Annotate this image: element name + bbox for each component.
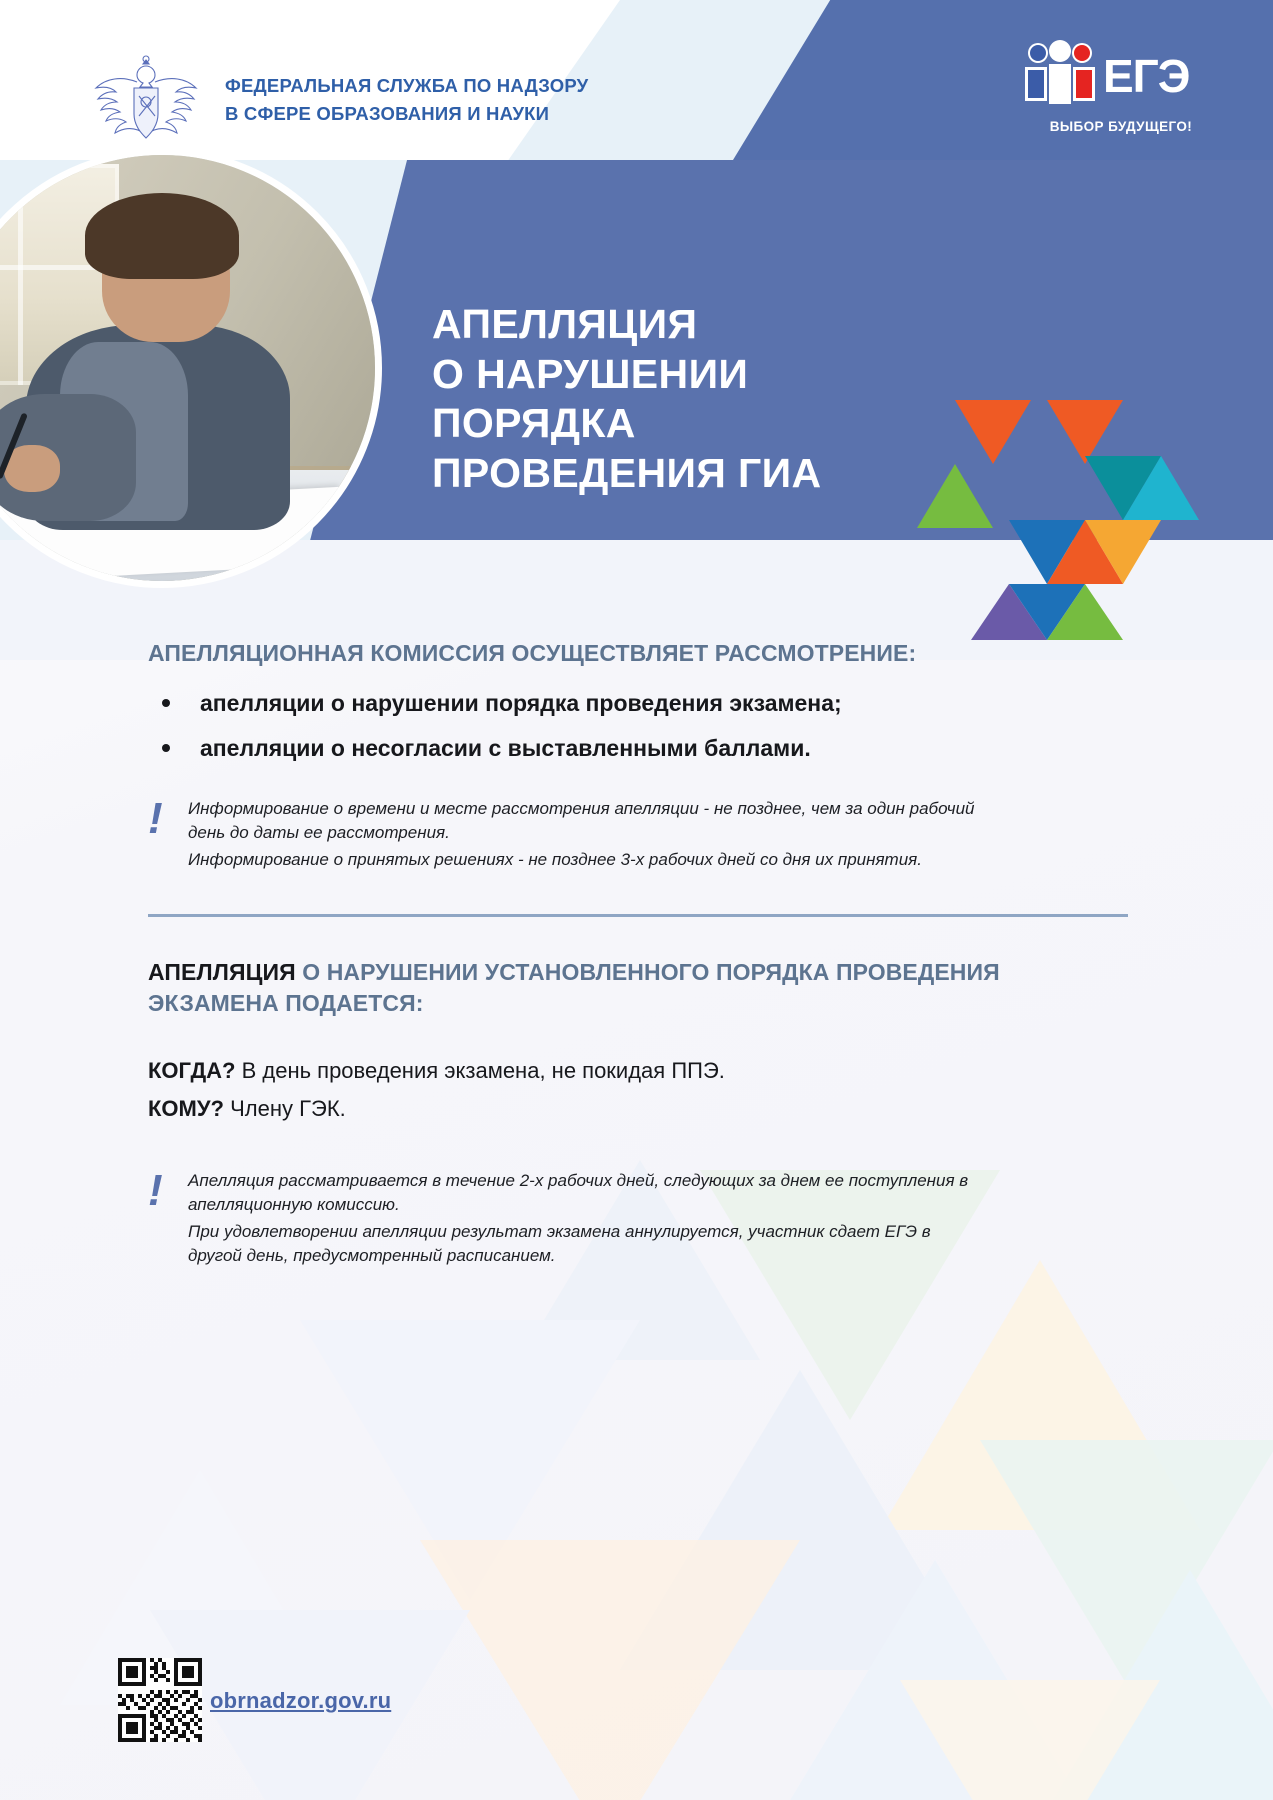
page-title: АПЕЛЛЯЦИЯ О НАРУШЕНИИ ПОРЯДКА ПРОВЕДЕНИЯ… xyxy=(432,300,952,498)
main-content: АПЕЛЛЯЦИОННАЯ КОМИССИЯ ОСУЩЕСТВЛЯЕТ РАСС… xyxy=(0,640,1273,1271)
ege-brand-logo: ЕГЭ ВЫБОР БУДУЩЕГО! xyxy=(1021,40,1221,145)
qa-value: Члену ГЭК. xyxy=(224,1096,346,1121)
section1-note: ! Информирование о времени и месте рассм… xyxy=(148,797,988,873)
list-item: апелляции о несогласии с выставленными б… xyxy=(148,734,1273,763)
ege-wordmark: ЕГЭ xyxy=(1103,53,1189,99)
section-divider xyxy=(148,914,1128,917)
decorative-triangles-hero xyxy=(955,400,1273,650)
ege-tagline: ВЫБОР БУДУЩЕГО! xyxy=(1021,119,1221,134)
title-line-3: ПОРЯДКА xyxy=(432,399,952,449)
title-line-2: О НАРУШЕНИИ xyxy=(432,350,952,400)
student-writing-photo xyxy=(0,148,382,588)
list-item: апелляции о нарушении порядка проведения… xyxy=(148,689,1273,718)
ege-people-logo-icon xyxy=(1021,40,1099,111)
section2-note: ! Апелляция рассматривается в течение 2-… xyxy=(148,1169,988,1270)
note-line: Апелляция рассматривается в течение 2-х … xyxy=(188,1169,988,1218)
title-line-1: АПЕЛЛЯЦИЯ xyxy=(432,300,952,350)
federal-coat-of-arms-icon xyxy=(92,52,200,148)
section2-qa-list: КОГДА? В день проведения экзамена, не по… xyxy=(148,1052,1273,1129)
title-line-4: ПРОВЕДЕНИЯ ГИА xyxy=(432,449,952,499)
poster-root: ФЕДЕРАЛЬНАЯ СЛУЖБА ПО НАДЗОРУ В СФЕРЕ ОБ… xyxy=(0,0,1273,1800)
exclamation-mark-icon: ! xyxy=(148,1173,163,1208)
qa-label: КОГДА? xyxy=(148,1058,235,1083)
section2-heading-accent: АПЕЛЛЯЦИЯ xyxy=(148,959,296,985)
qa-row-whom: КОМУ? Члену ГЭК. xyxy=(148,1090,1273,1129)
note-line: Информирование о времени и месте рассмот… xyxy=(188,797,988,846)
section1-bullet-list: апелляции о нарушении порядка проведения… xyxy=(148,689,1273,763)
website-link[interactable]: obrnadzor.gov.ru xyxy=(210,1688,391,1714)
qa-value: В день проведения экзамена, не покидая П… xyxy=(235,1058,724,1083)
organization-name: ФЕДЕРАЛЬНАЯ СЛУЖБА ПО НАДЗОРУ В СФЕРЕ ОБ… xyxy=(225,72,588,128)
exclamation-mark-icon: ! xyxy=(148,801,163,836)
note-line: При удовлетворении апелляции результат э… xyxy=(188,1220,988,1269)
section2-heading: АПЕЛЛЯЦИЯ О НАРУШЕНИИ УСТАНОВЛЕННОГО ПОР… xyxy=(148,957,1028,1019)
section1-heading: АПЕЛЛЯЦИОННАЯ КОМИССИЯ ОСУЩЕСТВЛЯЕТ РАСС… xyxy=(148,640,1273,667)
qa-row-when: КОГДА? В день проведения экзамена, не по… xyxy=(148,1052,1273,1091)
org-line-1: ФЕДЕРАЛЬНАЯ СЛУЖБА ПО НАДЗОРУ xyxy=(225,72,588,100)
note-line: Информирование о принятых решениях - не … xyxy=(188,848,988,873)
qr-code-icon[interactable] xyxy=(118,1658,202,1742)
org-line-2: В СФЕРЕ ОБРАЗОВАНИЯ И НАУКИ xyxy=(225,100,588,128)
qa-label: КОМУ? xyxy=(148,1096,224,1121)
